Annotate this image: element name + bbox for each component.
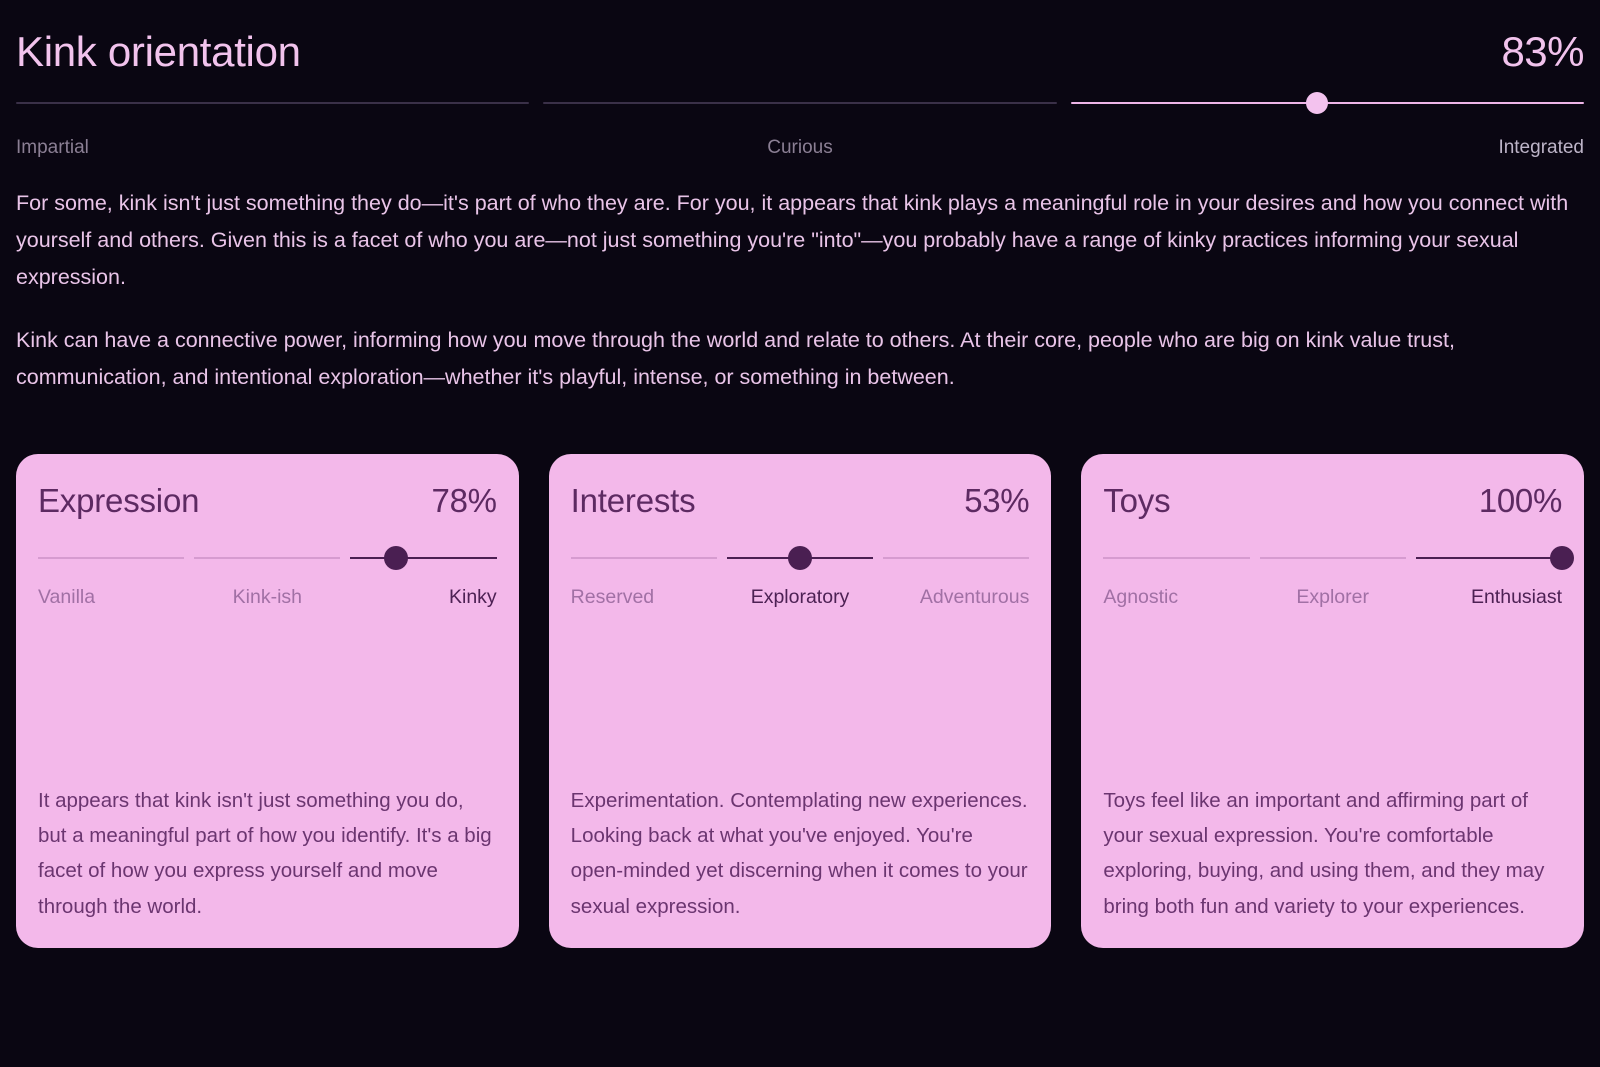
- card-title: Expression: [38, 482, 199, 520]
- card-slider[interactable]: [1103, 550, 1562, 566]
- intro-text: For some, kink isn't just something they…: [16, 185, 1584, 396]
- card-slider-segment-1[interactable]: [194, 557, 340, 559]
- facet-card-toys[interactable]: Toys 100% Agnostic Explorer Enthusiast T…: [1081, 454, 1584, 948]
- card-percent: 78%: [432, 482, 497, 520]
- card-title: Toys: [1103, 482, 1170, 520]
- page-title: Kink orientation: [16, 30, 301, 74]
- card-slider-labels: Reserved Exploratory Adventurous: [571, 586, 1030, 609]
- card-percent: 53%: [964, 482, 1029, 520]
- intro-paragraph-2: Kink can have a connective power, inform…: [16, 322, 1584, 396]
- intro-paragraph-1: For some, kink isn't just something they…: [16, 185, 1584, 296]
- card-label-2: Kinky: [344, 586, 497, 609]
- facet-card-expression[interactable]: Expression 78% Vanilla Kink-ish Kinky It…: [16, 454, 519, 948]
- overall-slider-thumb[interactable]: [1306, 92, 1328, 114]
- card-body-text: It appears that kink isn't just somethin…: [38, 783, 497, 924]
- card-slider-thumb[interactable]: [384, 546, 408, 570]
- overall-slider-track: [16, 96, 1584, 110]
- card-slider-labels: Agnostic Explorer Enthusiast: [1103, 586, 1562, 609]
- card-header: Interests 53%: [571, 482, 1030, 520]
- card-slider-track: [1103, 550, 1562, 566]
- card-header: Toys 100%: [1103, 482, 1562, 520]
- facet-card-interests[interactable]: Interests 53% Reserved Exploratory Adven…: [549, 454, 1052, 948]
- card-slider[interactable]: [38, 550, 497, 566]
- card-body-text: Toys feel like an important and affirmin…: [1103, 783, 1562, 924]
- card-slider-segment-0[interactable]: [571, 557, 717, 559]
- facet-cards: Expression 78% Vanilla Kink-ish Kinky It…: [16, 454, 1584, 948]
- card-slider-segment-0[interactable]: [38, 557, 184, 559]
- card-label-2: Enthusiast: [1409, 586, 1562, 609]
- card-label-0: Agnostic: [1103, 586, 1256, 609]
- card-slider-segment-0[interactable]: [1103, 557, 1249, 559]
- card-title: Interests: [571, 482, 696, 520]
- card-slider-segment-1[interactable]: [1260, 557, 1406, 559]
- overall-label-0: Impartial: [16, 137, 539, 159]
- card-slider[interactable]: [571, 550, 1030, 566]
- card-slider-thumb[interactable]: [788, 546, 812, 570]
- overall-slider-labels: Impartial Curious Integrated: [16, 137, 1584, 159]
- overall-slider[interactable]: [16, 96, 1584, 110]
- card-slider-thumb[interactable]: [1550, 546, 1574, 570]
- card-label-1: Exploratory: [724, 586, 877, 609]
- card-label-0: Reserved: [571, 586, 724, 609]
- card-slider-labels: Vanilla Kink-ish Kinky: [38, 586, 497, 609]
- card-label-1: Explorer: [1256, 586, 1409, 609]
- card-slider-track: [38, 550, 497, 566]
- card-label-2: Adventurous: [876, 586, 1029, 609]
- card-slider-segment-2[interactable]: [350, 557, 496, 559]
- card-slider-segment-2[interactable]: [883, 557, 1029, 559]
- card-label-1: Kink-ish: [191, 586, 344, 609]
- card-label-0: Vanilla: [38, 586, 191, 609]
- card-header: Expression 78%: [38, 482, 497, 520]
- header-row: Kink orientation 83%: [16, 0, 1584, 74]
- overall-percent: 83%: [1501, 30, 1584, 74]
- kink-orientation-page: Kink orientation 83% Impartial Curious I…: [0, 0, 1600, 948]
- card-slider-segment-2[interactable]: [1416, 557, 1562, 559]
- card-percent: 100%: [1479, 482, 1562, 520]
- overall-label-2: Integrated: [1061, 137, 1584, 159]
- overall-slider-segment-0[interactable]: [16, 102, 529, 104]
- overall-label-1: Curious: [539, 137, 1062, 159]
- overall-slider-segment-1[interactable]: [543, 102, 1056, 104]
- card-body-text: Experimentation. Contemplating new exper…: [571, 783, 1030, 924]
